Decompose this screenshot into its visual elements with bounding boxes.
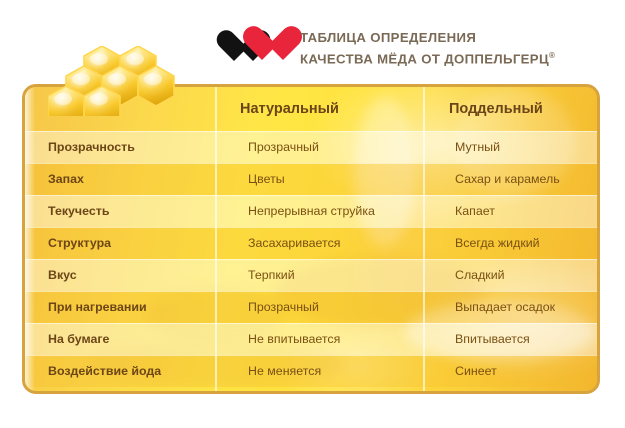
row-value-fake: Впитывается [455,323,530,355]
table-row: Воздействие йода Не меняется Синеет [25,355,597,387]
row-value-natural: Прозрачный [248,131,319,163]
table-row: Текучесть Непрерывная струйка Капает [25,195,597,227]
heart-red-icon [242,27,282,65]
row-value-fake: Всегда жидкий [455,227,540,259]
row-value-natural: Не впитывается [248,323,340,355]
row-divider [25,323,597,324]
page-title: ТАБЛИЦА ОПРЕДЕЛЕНИЯ КАЧЕСТВА МЁДА ОТ ДОП… [300,29,555,67]
row-value-natural: Засахаривается [248,227,340,259]
row-label: Структура [48,227,111,259]
row-value-fake: Капает [455,195,495,227]
row-value-natural: Прозрачный [248,291,319,323]
page-title-line-2: КАЧЕСТВА МЁДА ОТ ДОППЕЛЬГЕРЦ® [300,47,555,68]
row-divider [25,291,597,292]
table-row: Прозрачность Прозрачный Мутный [25,131,597,163]
column-divider [215,87,217,391]
table-row: Структура Засахаривается Всегда жидкий [25,227,597,259]
double-heart-logo [216,26,294,70]
row-value-natural: Не меняется [248,355,321,387]
column-header-natural: Натуральный [240,87,339,131]
row-value-natural: Непрерывная струйка [248,195,375,227]
table-row: При нагревании Прозрачный Выпадает осадо… [25,291,597,323]
row-value-fake: Синеет [455,355,497,387]
row-label: При нагревании [48,291,147,323]
row-divider [25,163,597,164]
row-value-fake: Выпадает осадок [455,291,555,323]
row-label: Текучесть [48,195,109,227]
row-label: Запах [48,163,84,195]
row-label: Вкус [48,259,77,291]
row-value-fake: Сахар и карамель [455,163,560,195]
table-row: Вкус Терпкий Сладкий [25,259,597,291]
row-value-fake: Сладкий [455,259,505,291]
row-value-natural: Цветы [248,163,285,195]
row-divider [25,259,597,260]
column-header-fake: Поддельный [449,87,543,131]
honeycomb-icon [48,46,186,116]
row-divider [25,131,597,132]
row-value-natural: Терпкий [248,259,295,291]
row-label: Прозрачность [48,131,135,163]
table-row: На бумаге Не впитывается Впитывается [25,323,597,355]
registered-trademark-icon: ® [549,51,555,60]
row-value-fake: Мутный [455,131,500,163]
row-label: На бумаге [48,323,109,355]
row-divider [25,227,597,228]
card-left-highlight [25,87,35,391]
row-label: Воздействие йода [48,355,161,387]
row-divider [25,195,597,196]
page-title-line-2-text: КАЧЕСТВА МЁДА ОТ ДОППЕЛЬГЕРЦ [300,51,549,66]
table-row: Запах Цветы Сахар и карамель [25,163,597,195]
honey-quality-table: Натуральный Поддельный Прозрачность Проз… [22,84,600,394]
column-divider [423,87,425,391]
row-divider [25,355,597,356]
page-title-line-1: ТАБЛИЦА ОПРЕДЕЛЕНИЯ [300,29,555,47]
